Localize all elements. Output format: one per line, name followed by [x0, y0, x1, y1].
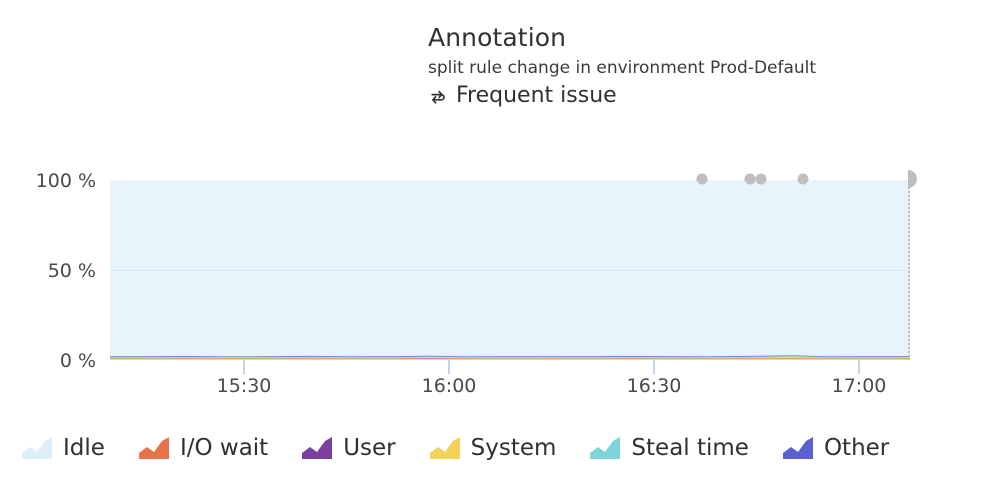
annotation-status: Frequent issue: [428, 83, 988, 109]
x-tick-label-1530: 15:30: [217, 375, 272, 397]
area-chart-icon: [22, 437, 52, 459]
legend-item-user[interactable]: User: [302, 435, 395, 461]
cpu-usage-chart: 100 % 50 % 0 % 15:30 16:00 16:30: [0, 150, 1008, 390]
area-chart-icon: [430, 437, 460, 459]
event-dot[interactable]: [697, 174, 708, 185]
y-tick-label-100: 100 %: [36, 172, 96, 191]
legend-label: System: [471, 435, 557, 461]
x-axis-baseline: [110, 359, 910, 360]
plot-area[interactable]: [110, 180, 910, 360]
area-chart-icon: [590, 437, 620, 459]
annotation-marker-line[interactable]: [908, 180, 910, 360]
x-tick-mark-4: [858, 360, 860, 374]
legend-item-io-wait[interactable]: I/O wait: [139, 435, 268, 461]
legend-label: User: [343, 435, 395, 461]
legend-label: I/O wait: [180, 435, 268, 461]
chart-legend: Idle I/O wait User System: [0, 424, 1008, 472]
x-tick-mark-2: [448, 360, 450, 374]
legend-item-idle[interactable]: Idle: [22, 435, 105, 461]
legend-item-system[interactable]: System: [430, 435, 557, 461]
area-chart-icon: [302, 437, 332, 459]
area-chart-icon: [139, 437, 169, 459]
legend-label: Idle: [63, 435, 105, 461]
x-tick-mark-1: [243, 360, 245, 374]
annotation-status-label: Frequent issue: [456, 83, 617, 109]
legend-label: Steal time: [631, 435, 749, 461]
x-tick-mark-3: [653, 360, 655, 374]
y-tick-label-0: 0 %: [60, 352, 96, 371]
area-chart-icon: [783, 437, 813, 459]
gridline-50: [110, 270, 910, 271]
legend-item-steal-time[interactable]: Steal time: [590, 435, 749, 461]
annotation-header: Annotation split rule change in environm…: [428, 22, 988, 109]
event-dot[interactable]: [798, 174, 809, 185]
legend-label: Other: [824, 435, 889, 461]
y-axis: 100 % 50 % 0 %: [0, 150, 96, 350]
y-tick-label-50: 50 %: [48, 262, 96, 281]
event-dot[interactable]: [756, 174, 767, 185]
x-tick-label-1600: 16:00: [422, 375, 477, 397]
annotation-subtitle: split rule change in environment Prod-De…: [428, 56, 988, 80]
event-dot[interactable]: [745, 174, 756, 185]
annotation-title: Annotation: [428, 22, 988, 54]
legend-item-other[interactable]: Other: [783, 435, 889, 461]
repeat-icon: [428, 87, 448, 107]
x-tick-label-1630: 16:30: [627, 375, 682, 397]
x-tick-label-1700: 17:00: [832, 375, 887, 397]
